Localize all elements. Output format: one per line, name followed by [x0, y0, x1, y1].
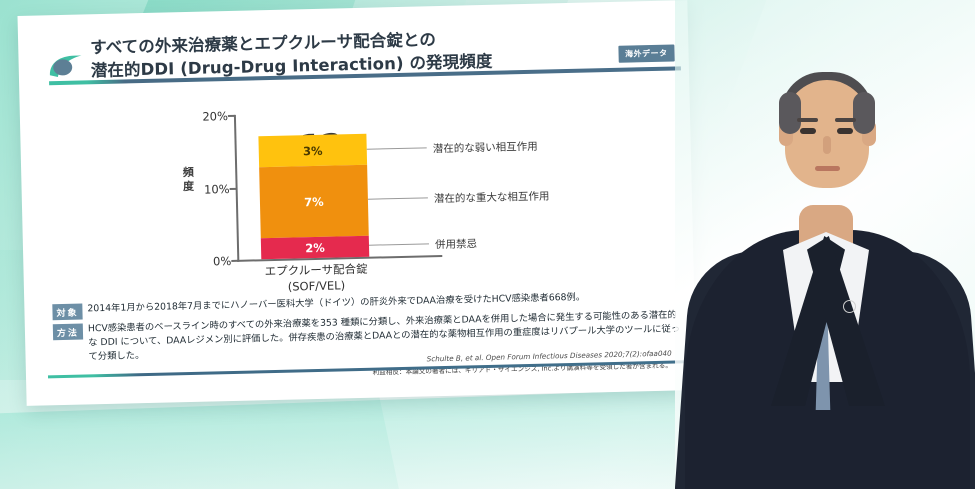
slide-header: すべての外来治療薬とエプクルーサ配合錠との 潜在的DDI (Drug-Drug …: [17, 0, 689, 88]
presenter-hair-side-left: [779, 92, 801, 134]
y-axis-label-char1: 頻: [181, 166, 195, 180]
x-axis-category-label: エプクルーサ配合錠 (SOF/VEL): [213, 261, 419, 297]
y-tick-label-20: 20%: [182, 109, 228, 124]
footnote-block: 対象 2014年1月から2018年7月までにハノーバー医科大学（ドイツ）の肝炎外…: [52, 288, 681, 367]
legend-label-contraindicated: 併用禁忌: [435, 236, 477, 252]
callout-line-major: [368, 197, 428, 200]
stacked-bar-chart: 頻 度 20% 10% 0% 全体12% 3% 7%: [170, 98, 604, 288]
presenter-nose: [823, 136, 831, 154]
presenter-hair-side-right: [853, 92, 875, 134]
legend-label-weak-interaction: 潜在的な弱い相互作用: [433, 139, 538, 156]
bar-segment-contraindicated[interactable]: 2%: [261, 236, 369, 260]
y-axis-line: [234, 115, 239, 262]
presentation-slide: すべての外来治療薬とエプクルーサ配合錠との 潜在的DDI (Drug-Drug …: [17, 0, 696, 406]
presenter-eyebrow-left: [797, 118, 818, 122]
presenter-video: [675, 0, 975, 489]
footnote-tag-method: 方法: [53, 323, 83, 340]
presenter-eye-left: [800, 128, 816, 134]
bar-segment-weak-interaction[interactable]: 3%: [258, 134, 367, 168]
overseas-data-badge: 海外データ: [618, 44, 675, 62]
legend-label-major-interaction: 潜在的な重大な相互作用: [434, 188, 550, 206]
footnote-tag-subject: 対象: [52, 303, 82, 320]
callout-line-contraindicated: [369, 243, 429, 246]
studio-background: すべての外来治療薬とエプクルーサ配合錠との 潜在的DDI (Drug-Drug …: [0, 0, 975, 489]
y-tick-label-10: 10%: [183, 182, 229, 197]
bar-stack: 3% 7% 2%: [258, 134, 369, 260]
presenter-mouth: [815, 166, 840, 171]
presenter-microphone-icon: [843, 300, 856, 313]
presenter-eyebrow-right: [835, 118, 856, 122]
callout-line-weak: [367, 147, 427, 150]
bar-segment-major-interaction[interactable]: 7%: [259, 165, 369, 239]
leaf-logo-icon: [48, 54, 83, 79]
presenter-eye-right: [837, 128, 853, 134]
